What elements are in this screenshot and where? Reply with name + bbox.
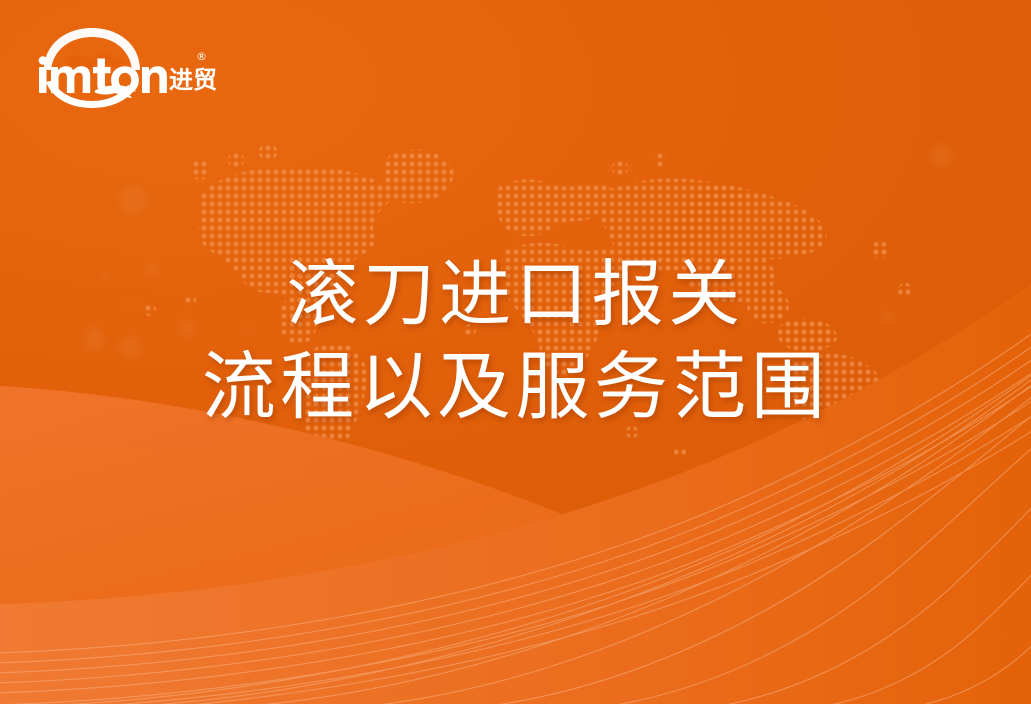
trademark-icon: ® <box>196 50 207 63</box>
page-title-line-1: 滚刀进口报关 <box>0 258 1031 334</box>
title-block: 滚刀进口报关 流程以及服务范围 <box>0 258 1031 427</box>
banner-slide: 进贸通 ® 滚刀进口报关 流程以及服务范围 <box>0 0 1031 704</box>
logo-wordmark-latin <box>39 56 167 93</box>
dolphin-arc-icon <box>46 81 136 108</box>
page-title-line-2: 流程以及服务范围 <box>0 350 1031 428</box>
logo-wordmark-chinese: 进贸通 <box>169 66 216 94</box>
imton-logo[interactable]: 进贸通 ® <box>36 26 216 108</box>
